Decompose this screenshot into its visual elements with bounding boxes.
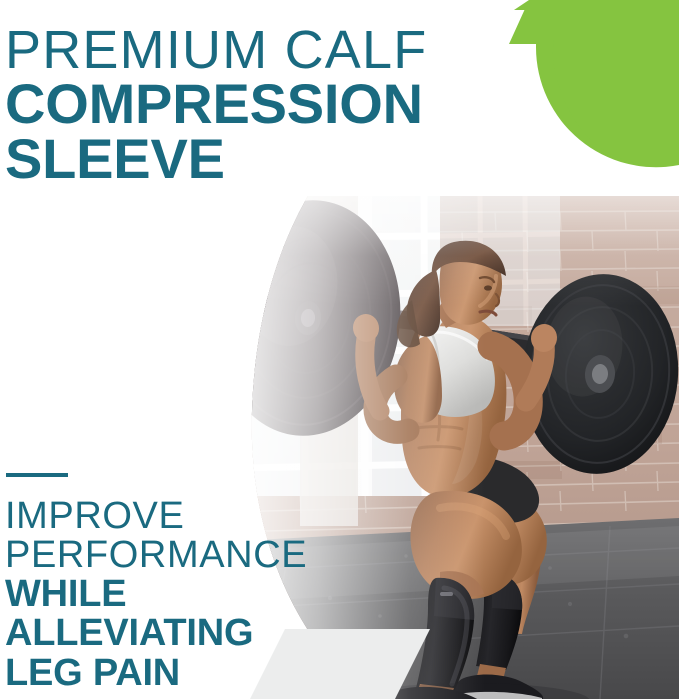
subhead-line-3: WHILE: [5, 575, 305, 614]
headline-line-1: PREMIUM CALF: [5, 24, 525, 77]
subhead-block: IMPROVE PERFORMANCE WHILE ALLEVIATING LE…: [5, 497, 305, 693]
poster-canvas: PREMIUM CALF COMPRESSION SLEEVE IMPROVE …: [0, 0, 679, 699]
headline-line-2: COMPRESSION: [5, 77, 525, 132]
divider-rule: [6, 473, 68, 477]
subhead-line-1: IMPROVE: [5, 497, 305, 536]
subhead-line-4: ALLEVIATING: [5, 614, 305, 653]
subhead-line-2: PERFORMANCE: [5, 536, 305, 575]
headline-line-3: SLEEVE: [5, 132, 525, 187]
headline-block: PREMIUM CALF COMPRESSION SLEEVE: [5, 24, 525, 187]
subhead-line-5: LEG PAIN: [5, 654, 305, 693]
